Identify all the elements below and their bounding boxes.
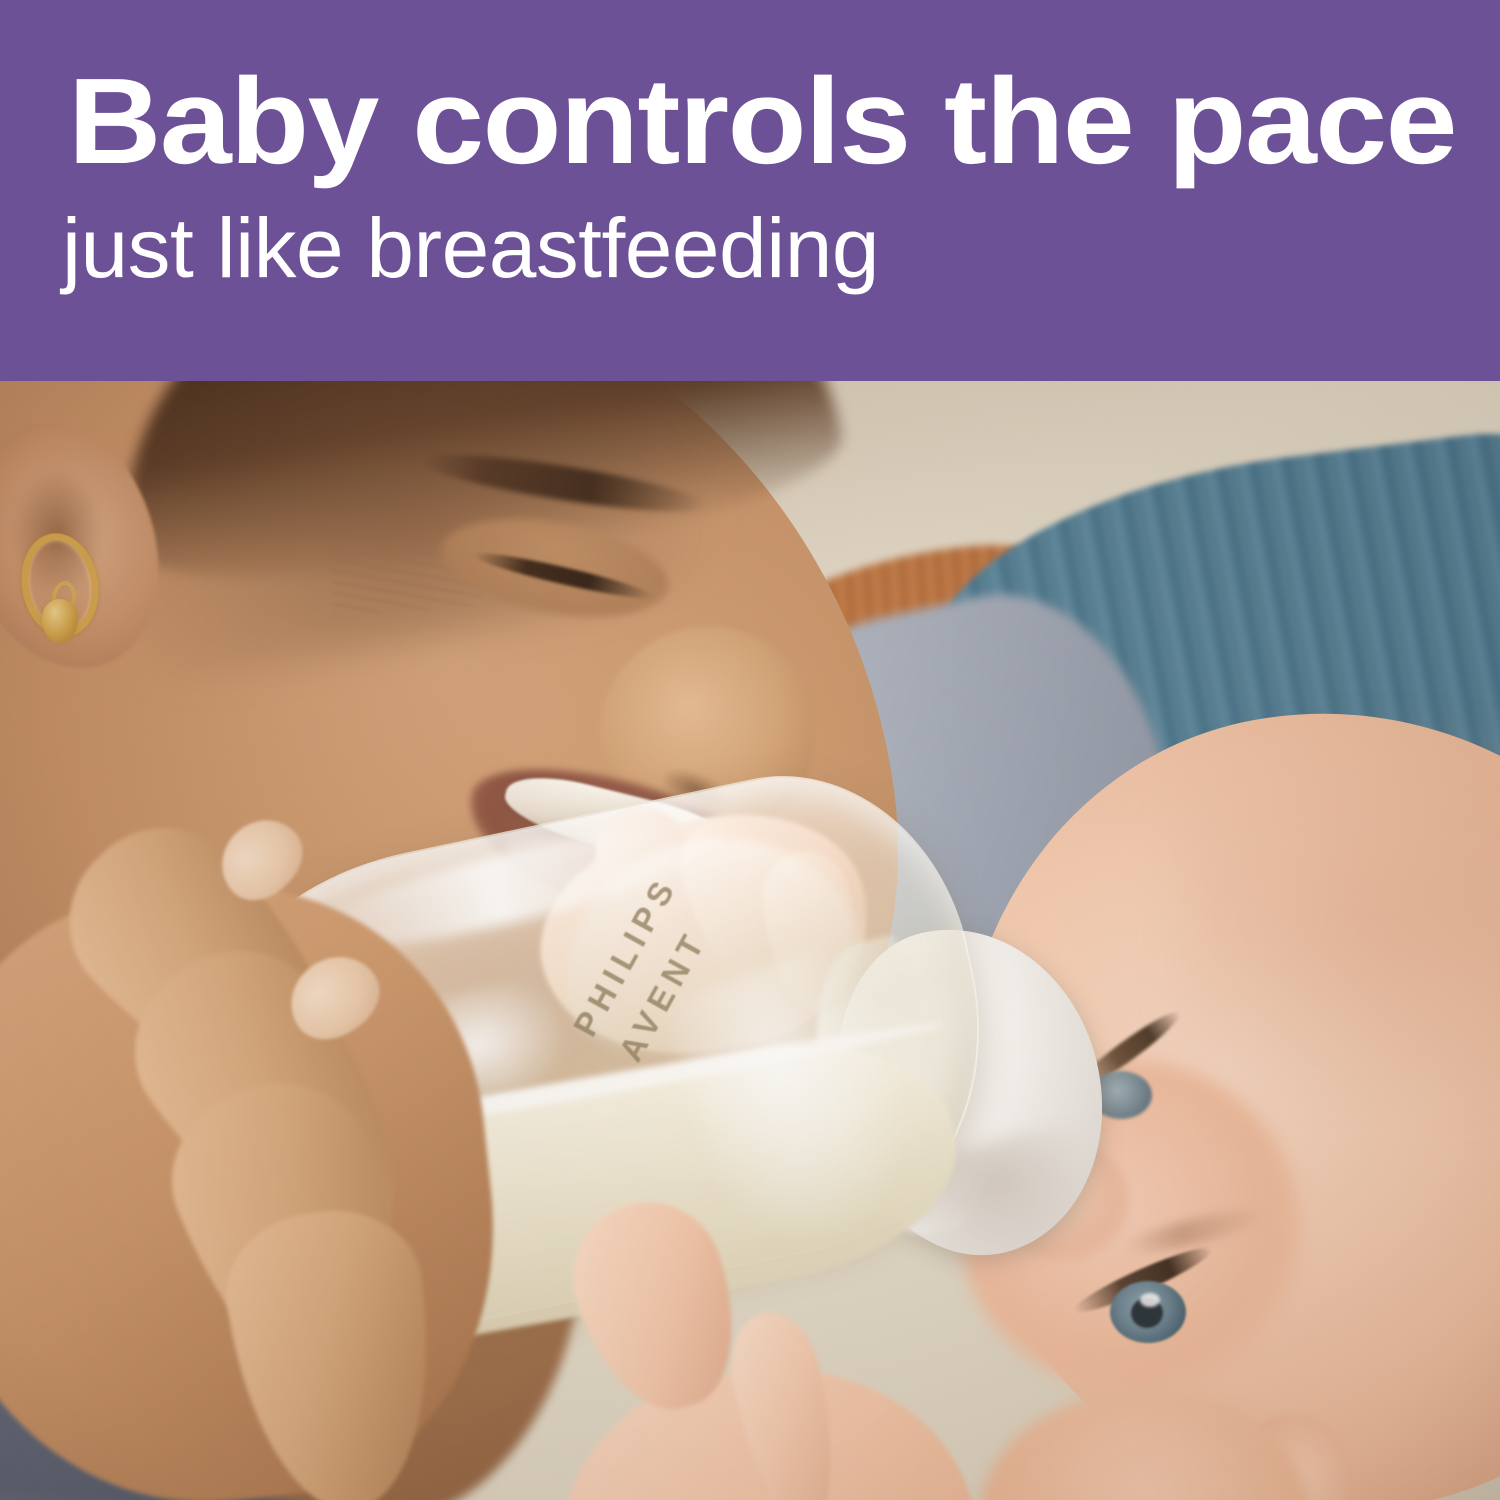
page-title: Baby controls the pace — [68, 60, 1500, 182]
lifestyle-photo: PHILIPS AVENT — [0, 381, 1500, 1500]
product-feature-card: Baby controls the pace just like breastf… — [0, 0, 1500, 1500]
page-subtitle: just like breastfeeding — [62, 206, 1500, 290]
baby-eye-highlight — [1140, 1293, 1160, 1307]
header-banner: Baby controls the pace just like breastf… — [0, 0, 1500, 381]
baby-crown-shading — [1180, 721, 1500, 1121]
